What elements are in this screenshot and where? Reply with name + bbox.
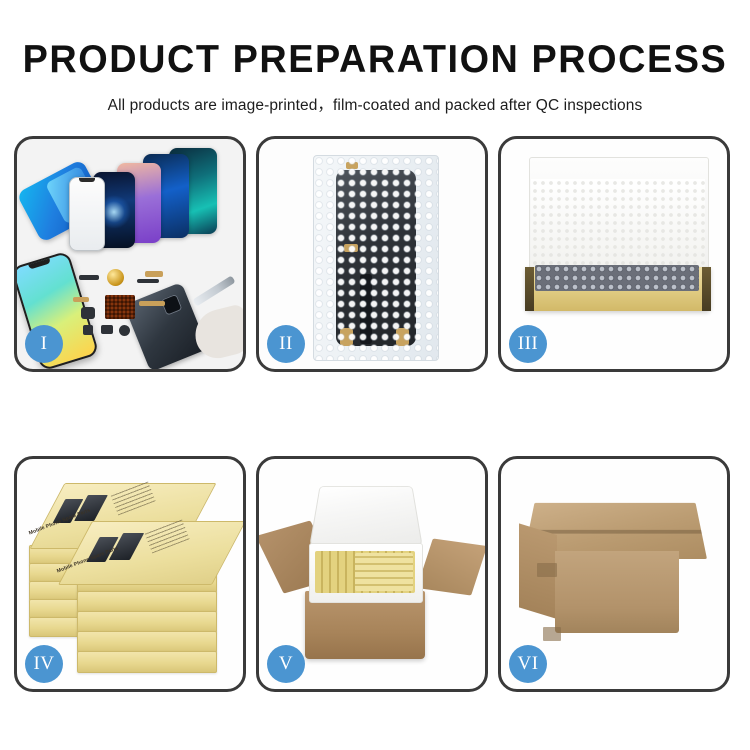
button-part-icon bbox=[83, 325, 93, 335]
flex-cable-icon bbox=[145, 271, 163, 277]
flex-cable-3-icon bbox=[73, 297, 89, 302]
process-step-3[interactable]: III bbox=[498, 136, 730, 372]
chip-icon bbox=[79, 275, 99, 280]
screen-glass-icon bbox=[69, 177, 105, 251]
process-step-grid: I II III bbox=[14, 136, 736, 696]
foam-lid-icon bbox=[309, 486, 422, 546]
tape-seal-upper-icon bbox=[537, 563, 557, 577]
carton-flap-right-icon bbox=[417, 538, 485, 595]
tape-tab-mid-icon bbox=[344, 244, 358, 252]
process-step-4[interactable]: Mobile Phone Spare Parts Mobile Phone Sp… bbox=[14, 456, 246, 692]
step-badge-2: II bbox=[267, 325, 305, 363]
stacked-box-icon bbox=[77, 591, 217, 613]
page-subtitle: All products are image-printed，film-coat… bbox=[0, 79, 750, 115]
tape-tab-top-icon bbox=[346, 162, 358, 169]
page-title: PRODUCT PREPARATION PROCESS bbox=[11, 0, 739, 79]
packed-boxes-row-2-icon bbox=[355, 553, 413, 591]
vibrator-icon bbox=[119, 325, 130, 336]
stacked-box-icon bbox=[77, 651, 217, 673]
camera-module-icon bbox=[101, 325, 113, 334]
step-badge-5: V bbox=[267, 645, 305, 683]
technician-hand-icon bbox=[190, 303, 243, 363]
tape-tab-bottom-left-icon bbox=[340, 328, 353, 346]
carton-front-icon bbox=[555, 551, 679, 633]
screwdriver-icon bbox=[192, 275, 235, 306]
stacked-box-icon bbox=[77, 611, 217, 633]
step-badge-6: VI bbox=[509, 645, 547, 683]
antenna-strip-icon bbox=[137, 279, 159, 283]
screen-flex-cable-icon bbox=[360, 274, 372, 344]
process-step-1[interactable]: I bbox=[14, 136, 246, 372]
step-badge-4: IV bbox=[25, 645, 63, 683]
connector-icon bbox=[81, 307, 95, 319]
step-badge-3: III bbox=[509, 325, 547, 363]
speaker-coil-icon bbox=[107, 269, 124, 286]
tape-tab-bottom-right-icon bbox=[396, 328, 409, 346]
phone-back-housing-icon bbox=[124, 282, 208, 369]
wrapped-units-icon bbox=[535, 265, 699, 291]
page-header: PRODUCT PREPARATION PROCESS All products… bbox=[0, 0, 750, 128]
bubble-wrap-bag-icon bbox=[313, 155, 439, 361]
copper-mesh-icon bbox=[105, 295, 135, 319]
step-badge-1: I bbox=[25, 325, 63, 363]
foam-liner-icon bbox=[531, 179, 705, 271]
process-step-5[interactable]: V bbox=[256, 456, 488, 692]
screen-assembly-icon bbox=[336, 170, 416, 346]
flex-cable-2-icon bbox=[139, 301, 165, 306]
tape-seal-lower-icon bbox=[543, 627, 561, 641]
process-step-2[interactable]: II bbox=[256, 136, 488, 372]
process-step-6[interactable]: VI bbox=[498, 456, 730, 692]
stacked-box-icon bbox=[77, 631, 217, 653]
